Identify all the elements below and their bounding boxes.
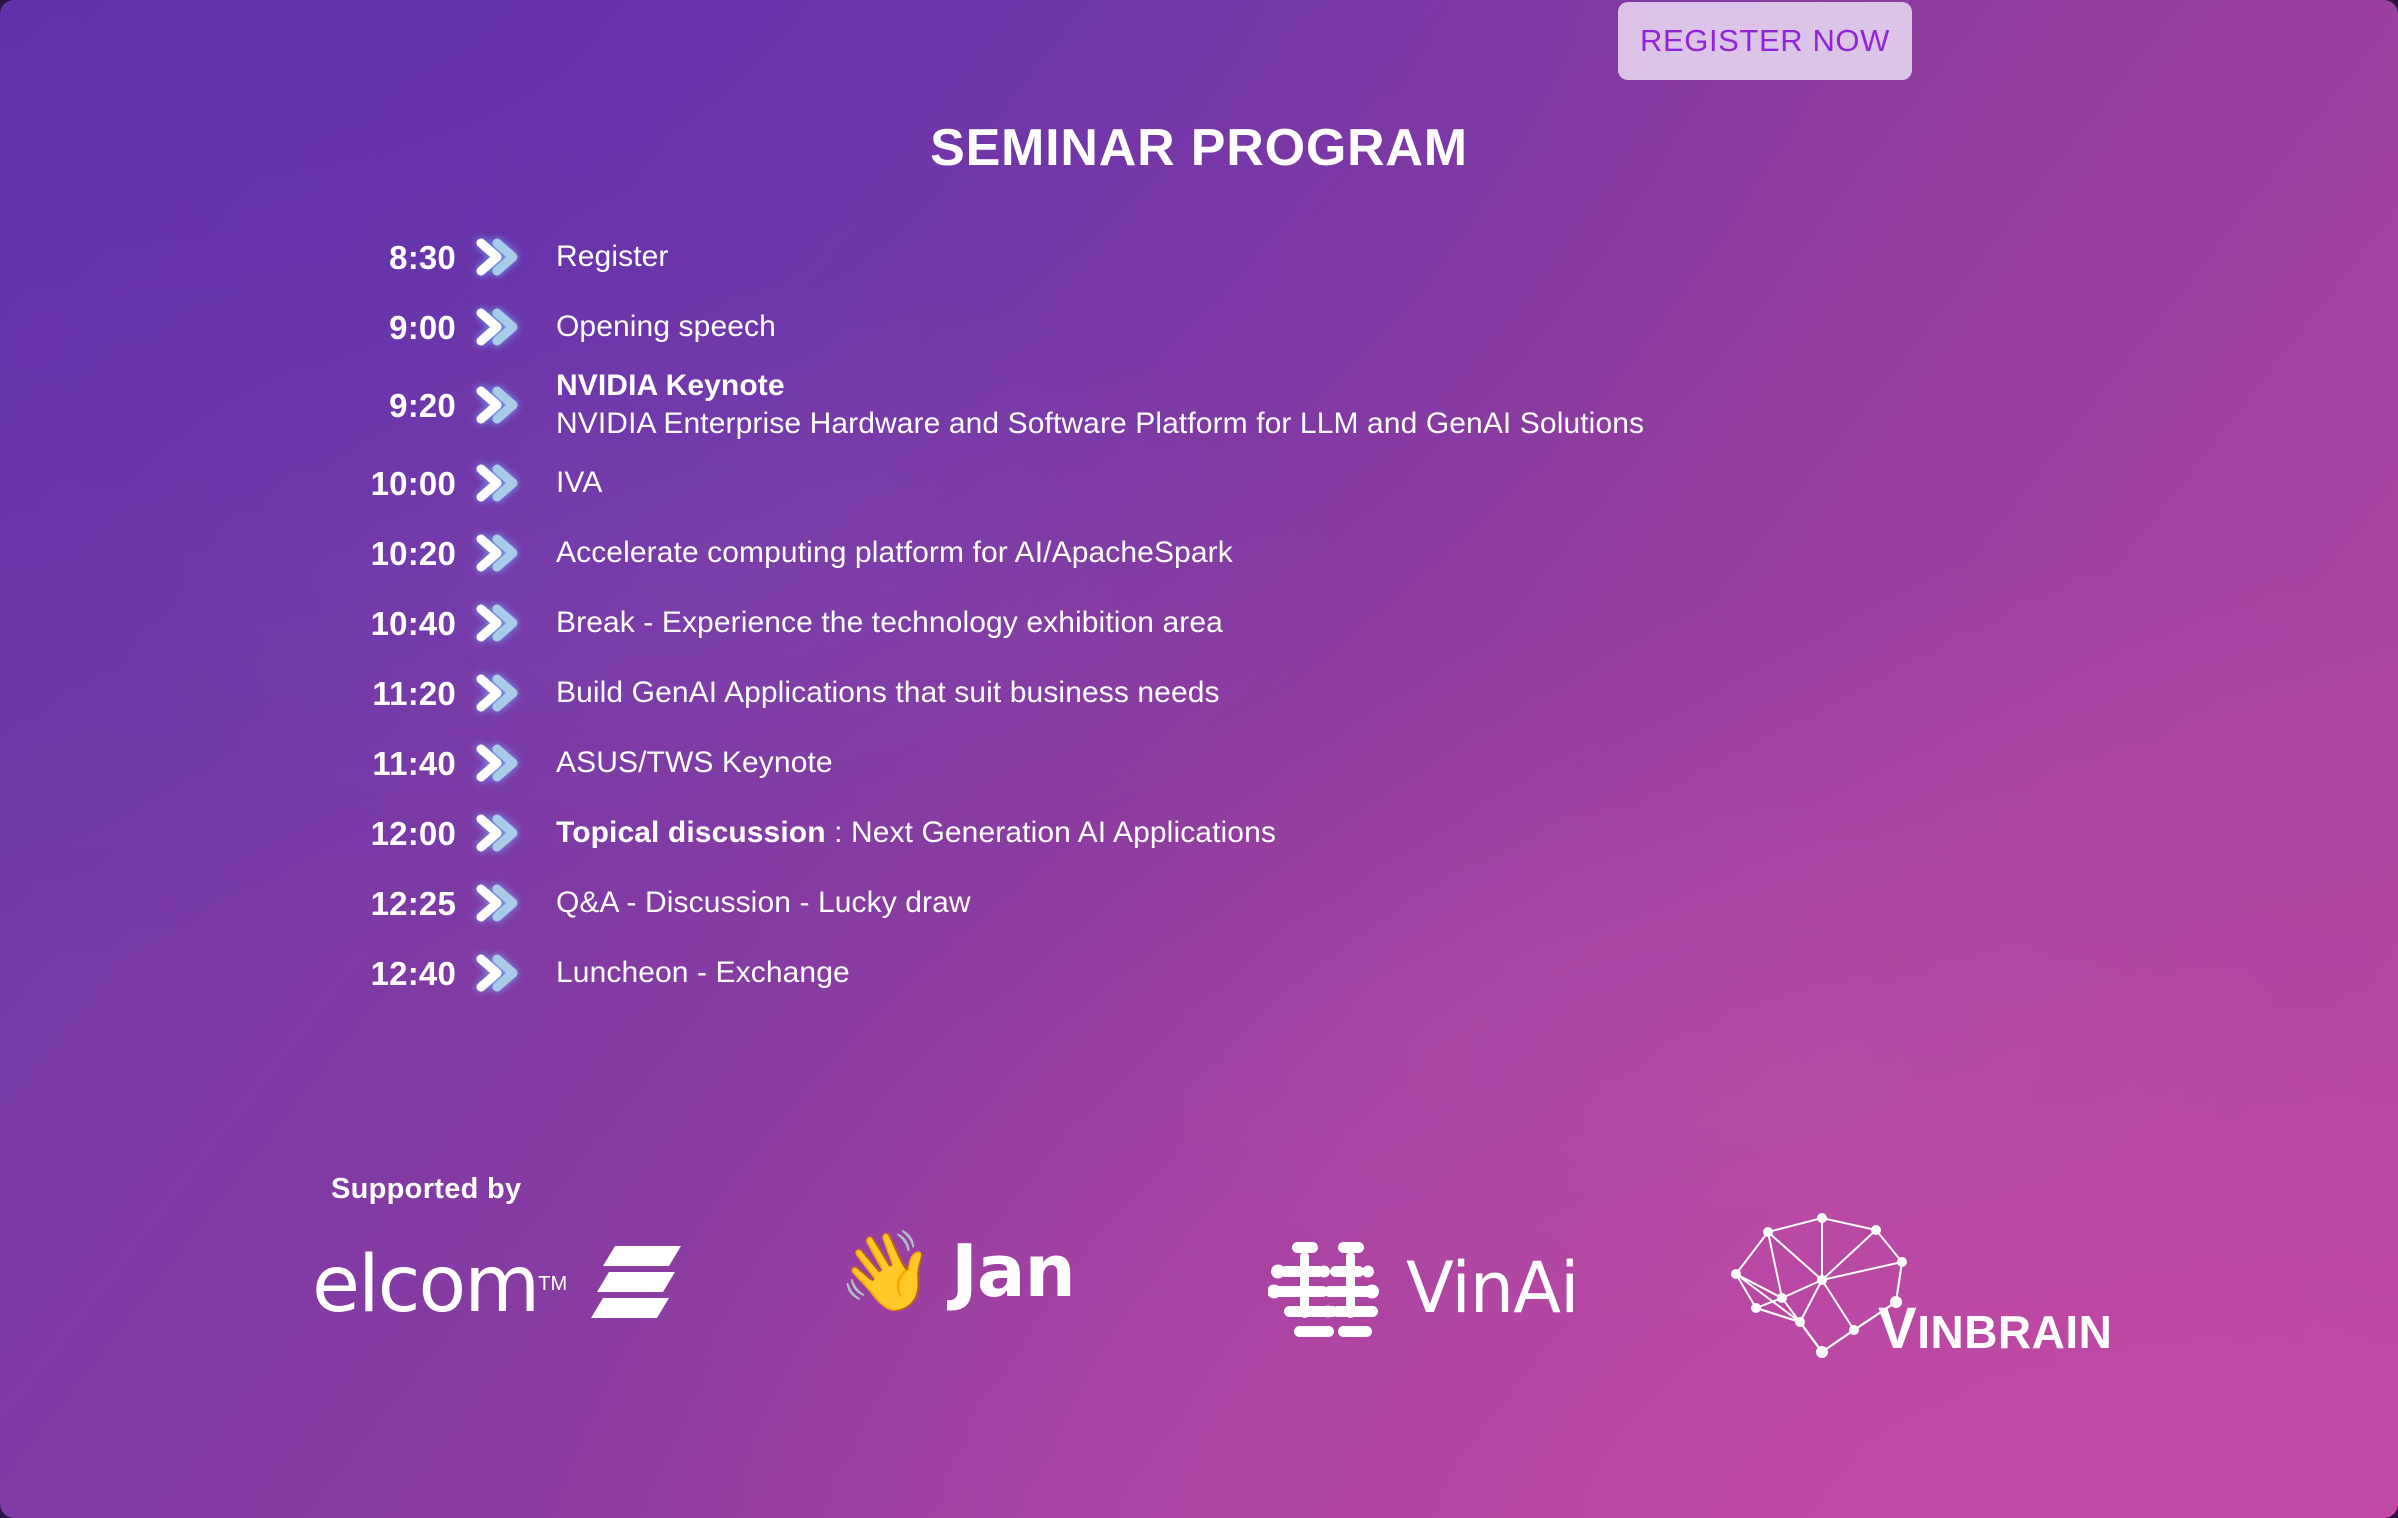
schedule-time: 8:30 bbox=[334, 241, 456, 274]
schedule-entry-text: Q&A - Discussion - Lucky draw bbox=[534, 884, 2114, 922]
vinai-circuit-mark-icon bbox=[1268, 1226, 1388, 1349]
elcom-wordmark: elcom bbox=[312, 1246, 538, 1324]
double-chevron-icon bbox=[456, 953, 534, 993]
schedule-entry-text: Luncheon - Exchange bbox=[534, 954, 2114, 992]
schedule-entry-text: Opening speech bbox=[534, 308, 2114, 346]
schedule-time: 9:00 bbox=[334, 311, 456, 344]
vinai-wordmark: VinAi bbox=[1406, 1253, 1579, 1323]
schedule-time: 12:00 bbox=[334, 817, 456, 850]
sponsor-logo-jan[interactable]: 👋 Jan bbox=[838, 1232, 1075, 1310]
schedule-entry-title: ASUS/TWS Keynote bbox=[556, 746, 833, 779]
schedule-entry-title: Register bbox=[556, 240, 669, 273]
schedule-row: 12:00Topical discussion : Next Generatio… bbox=[334, 798, 2114, 868]
schedule-entry-title: Build GenAI Applications that suit busin… bbox=[556, 676, 1220, 709]
double-chevron-icon bbox=[456, 307, 534, 347]
double-chevron-icon bbox=[456, 883, 534, 923]
schedule-entry-text: Topical discussion : Next Generation AI … bbox=[534, 814, 2114, 852]
schedule-time: 11:40 bbox=[334, 747, 456, 780]
schedule-entry-title: Accelerate computing platform for AI/Apa… bbox=[556, 536, 1233, 569]
schedule-entry-title: Break - Experience the technology exhibi… bbox=[556, 606, 1223, 639]
schedule-time: 10:00 bbox=[334, 467, 456, 500]
schedule-entry-title: Luncheon - Exchange bbox=[556, 956, 850, 989]
schedule-entry-title: Q&A - Discussion - Lucky draw bbox=[556, 886, 971, 919]
double-chevron-icon bbox=[456, 385, 534, 425]
schedule-entry-subtitle: NVIDIA Enterprise Hardware and Software … bbox=[556, 405, 2114, 443]
schedule-entry-text: Build GenAI Applications that suit busin… bbox=[534, 674, 2114, 712]
double-chevron-icon bbox=[456, 743, 534, 783]
elcom-trademark-symbol: TM bbox=[538, 1273, 567, 1296]
schedule-entry-text: IVA bbox=[534, 464, 2114, 502]
schedule-row: 10:00IVA bbox=[334, 448, 2114, 518]
schedule-entry-title: IVA bbox=[556, 466, 602, 499]
schedule-time: 9:20 bbox=[334, 389, 456, 422]
schedule-row: 10:20Accelerate computing platform for A… bbox=[334, 518, 2114, 588]
schedule-entry-title: Opening speech bbox=[556, 310, 776, 343]
schedule-time: 10:20 bbox=[334, 537, 456, 570]
page-title: SEMINAR PROGRAM bbox=[0, 118, 2398, 178]
schedule-entry-title-rest: : Next Generation AI Applications bbox=[826, 816, 1276, 849]
seminar-program-page: REGISTER NOW SEMINAR PROGRAM 8:30Registe… bbox=[0, 0, 2398, 1518]
schedule-entry-text: Accelerate computing platform for AI/Apa… bbox=[534, 534, 2114, 572]
sponsor-logo-elcom[interactable]: elcom TM bbox=[312, 1242, 681, 1327]
waving-hand-icon: 👋 bbox=[838, 1232, 935, 1310]
double-chevron-icon bbox=[456, 533, 534, 573]
schedule-entry-title: NVIDIA Keynote bbox=[556, 369, 785, 402]
schedule-entry-title: Topical discussion bbox=[556, 816, 826, 849]
schedule-row: 11:20Build GenAI Applications that suit … bbox=[334, 658, 2114, 728]
double-chevron-icon bbox=[456, 813, 534, 853]
schedule-time: 12:40 bbox=[334, 957, 456, 990]
schedule-row: 10:40Break - Experience the technology e… bbox=[334, 588, 2114, 658]
schedule-row: 9:20NVIDIA KeynoteNVIDIA Enterprise Hard… bbox=[334, 362, 2114, 448]
double-chevron-icon bbox=[456, 673, 534, 713]
schedule-time: 11:20 bbox=[334, 677, 456, 710]
supported-by-label: Supported by bbox=[331, 1173, 522, 1206]
elcom-e-mark-icon bbox=[585, 1242, 681, 1327]
schedule-row: 11:40ASUS/TWS Keynote bbox=[334, 728, 2114, 798]
double-chevron-icon bbox=[456, 237, 534, 277]
vinbrain-wordmark: VINBRAIN bbox=[1878, 1300, 2112, 1358]
schedule-entry-text: Break - Experience the technology exhibi… bbox=[534, 604, 2114, 642]
schedule-time: 12:25 bbox=[334, 887, 456, 920]
jan-wordmark: Jan bbox=[951, 1235, 1075, 1307]
vinbrain-rest: INBRAIN bbox=[1917, 1306, 2112, 1358]
sponsor-logo-vinbrain[interactable]: VINBRAIN bbox=[1726, 1202, 2106, 1362]
double-chevron-icon bbox=[456, 463, 534, 503]
schedule-row: 12:25Q&A - Discussion - Lucky draw bbox=[334, 868, 2114, 938]
schedule-row: 9:00Opening speech bbox=[334, 292, 2114, 362]
schedule-row: 12:40Luncheon - Exchange bbox=[334, 938, 2114, 1008]
schedule-entry-text: NVIDIA KeynoteNVIDIA Enterprise Hardware… bbox=[534, 367, 2114, 444]
schedule-entry-text: Register bbox=[534, 238, 2114, 276]
schedule-list: 8:30Register9:00Opening speech9:20NVIDIA… bbox=[334, 222, 2114, 1008]
schedule-time: 10:40 bbox=[334, 607, 456, 640]
schedule-row: 8:30Register bbox=[334, 222, 2114, 292]
double-chevron-icon bbox=[456, 603, 534, 643]
vinbrain-initial: V bbox=[1878, 1296, 1917, 1361]
schedule-entry-text: ASUS/TWS Keynote bbox=[534, 744, 2114, 782]
register-now-button[interactable]: REGISTER NOW bbox=[1618, 2, 1912, 80]
sponsor-logo-vinai[interactable]: VinAi bbox=[1268, 1226, 1579, 1349]
